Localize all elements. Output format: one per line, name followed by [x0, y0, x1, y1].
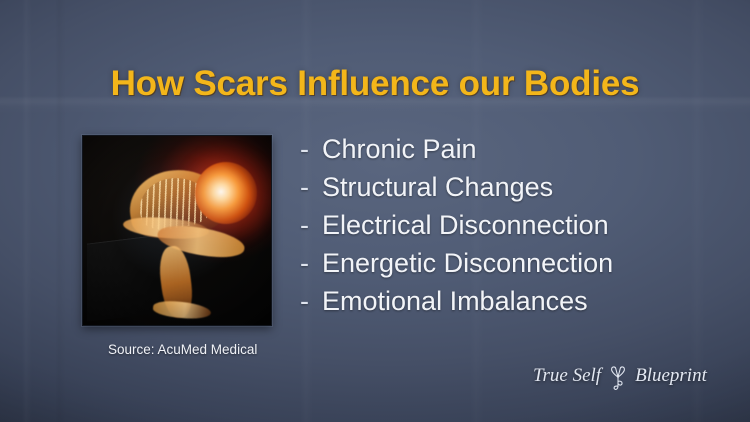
bullet-label: Structural Changes — [322, 172, 553, 203]
brand-logo: True Self Blueprint — [533, 361, 707, 391]
photo-canvas — [83, 136, 271, 325]
bullet-item-chronic-pain: - Chronic Pain — [300, 134, 730, 172]
image-source-caption: Source: AcuMed Medical — [108, 342, 257, 357]
bullet-item-emotional-imbalances: - Emotional Imbalances — [300, 286, 730, 324]
bullet-marker-icon: - — [300, 172, 322, 203]
bullet-item-electrical-disconnection: - Electrical Disconnection — [300, 210, 730, 248]
bullet-label: Emotional Imbalances — [322, 286, 588, 317]
bullet-label: Energetic Disconnection — [322, 248, 613, 279]
photo-vignette — [83, 136, 271, 325]
slide-title: How Scars Influence our Bodies — [0, 64, 750, 104]
bullet-marker-icon: - — [300, 210, 322, 241]
flourish-ornament-icon — [605, 362, 631, 392]
logo-text-left: True Self — [533, 365, 601, 387]
logo-text-right: Blueprint — [635, 365, 707, 387]
bullet-marker-icon: - — [300, 134, 322, 165]
bullet-marker-icon: - — [300, 286, 322, 317]
bullet-label: Chronic Pain — [322, 134, 477, 165]
bullet-item-structural-changes: - Structural Changes — [300, 172, 730, 210]
bullet-label: Electrical Disconnection — [322, 210, 609, 241]
bullet-list: - Chronic Pain - Structural Changes - El… — [300, 134, 730, 324]
bullet-marker-icon: - — [300, 248, 322, 279]
bullet-item-energetic-disconnection: - Energetic Disconnection — [300, 248, 730, 286]
presentation-slide: How Scars Influence our Bodies - Chronic… — [0, 0, 750, 422]
anatomical-figure-photo — [82, 135, 272, 326]
